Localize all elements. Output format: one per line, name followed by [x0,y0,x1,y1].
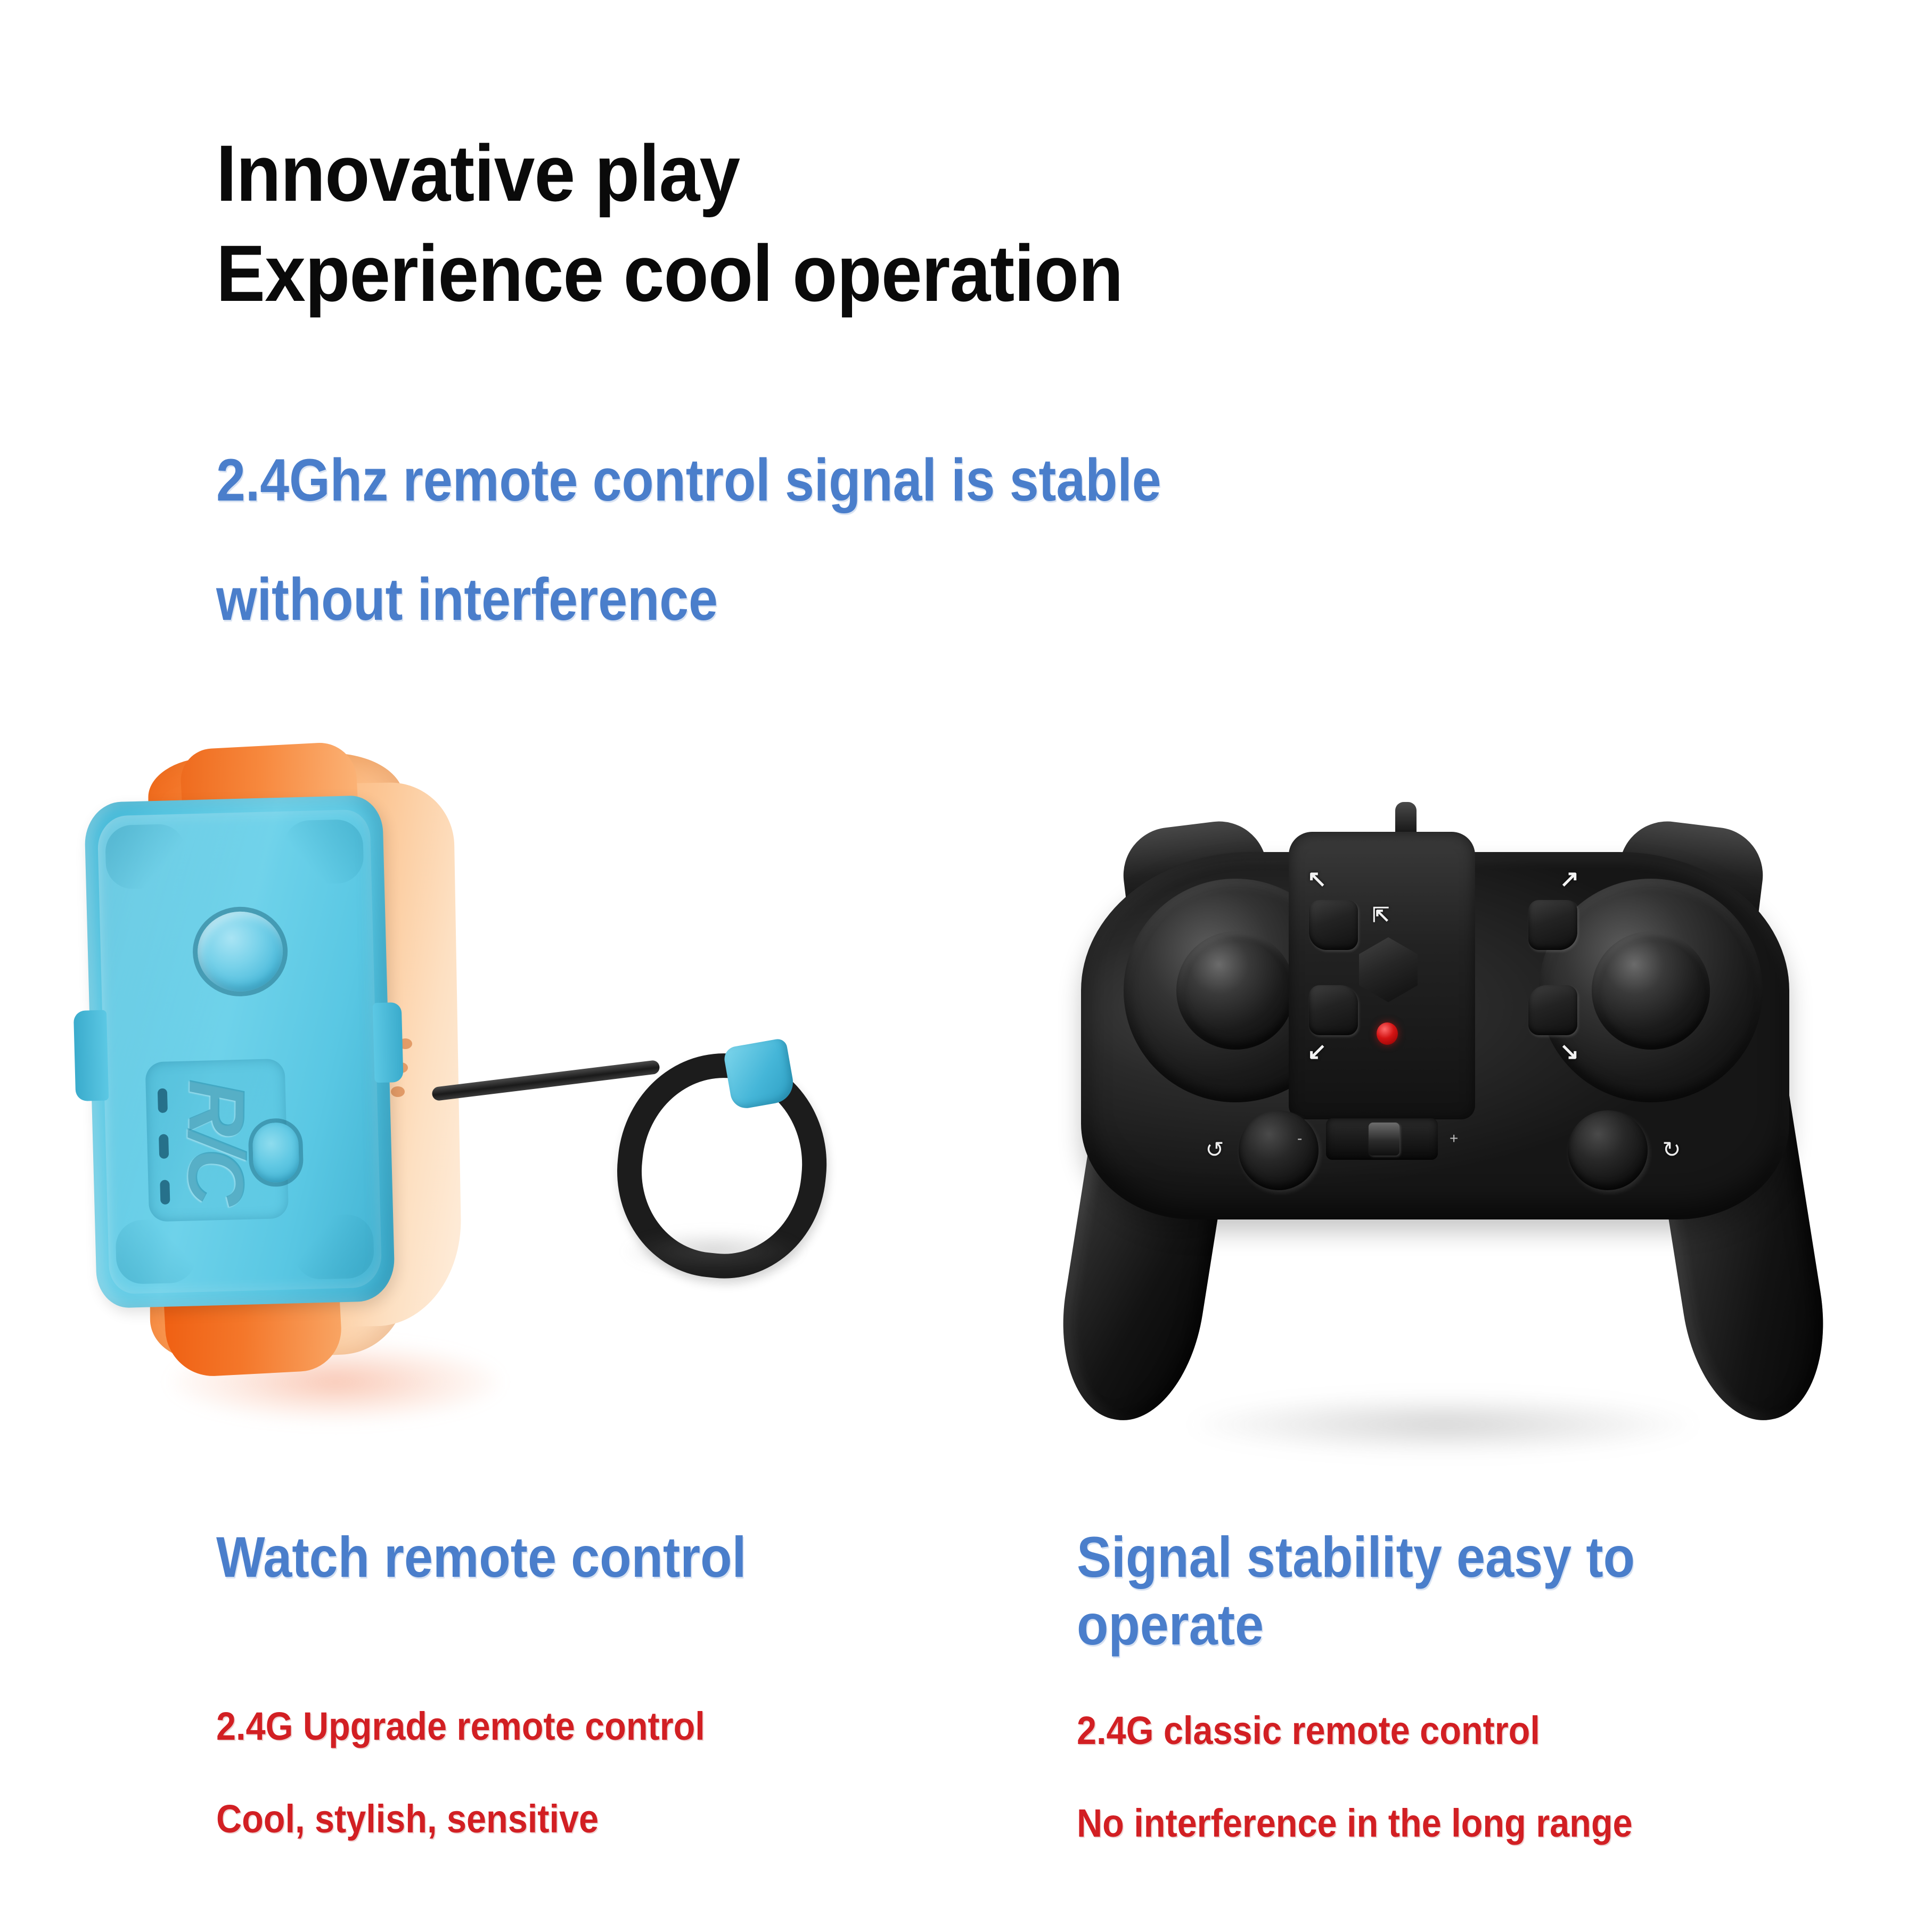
gamepad-drop-shadow [1188,1395,1699,1454]
lanyard-drop-shadow [623,1230,804,1273]
trim-button-left[interactable] [1239,1110,1319,1190]
arrow-up-left-icon: ↖ [1305,867,1329,891]
page-subtitle: 2.4Ghz remote control signal is stable w… [216,421,1654,659]
slider-switch-knob[interactable] [1369,1123,1399,1156]
direction-button-bottom-left[interactable] [1309,985,1358,1035]
arrow-down-left-icon: ↙ [1305,1039,1329,1064]
caption-line: No interference in the long range [1077,1777,1767,1870]
trim-button-right[interactable] [1568,1110,1648,1190]
direction-button-bottom-right[interactable] [1528,985,1577,1035]
caption-heading-left: Watch remote control [216,1523,926,1591]
caption-column-left: Watch remote control 2.4G Upgrade remote… [216,1523,1004,1865]
watch-small-button[interactable] [252,1122,300,1183]
caption-line: 2.4G classic remote control [1077,1684,1767,1777]
direction-button-top-left[interactable] [1309,900,1358,950]
headline-line-2: Experience cool operation [216,224,1490,324]
product-image-row: R/C [0,735,1932,1491]
caption-heading-right: Signal stability easy to operate [1077,1523,1767,1659]
power-led-indicator [1377,1022,1398,1045]
caption-column-right: Signal stability easy to operate 2.4G cl… [1077,1523,1844,1870]
page-headline: Innovative play Experience cool operatio… [216,124,1601,323]
watch-lanyard-stem [431,1060,660,1101]
antenna-icon [1395,802,1417,835]
watch-side-nub-left [73,1010,109,1102]
trim-left-icon: ↺ [1199,1134,1230,1165]
watch-corner-accent [105,824,186,890]
headline-line-1: Innovative play [216,124,1490,224]
gamepad-photo: ⇱ ↖ ↗ ↙ ↘ ↺ ↻ - + [1028,799,1859,1448]
watch-face-body: R/C [84,795,396,1308]
subtitle-line-2: without interference [216,540,1481,659]
slider-tick-right: + [1450,1128,1458,1149]
watch-corner-accent [283,819,364,885]
arrow-up-icon: ⇱ [1369,903,1393,928]
arrow-down-right-icon: ↘ [1557,1039,1582,1064]
slider-tick-left: - [1297,1128,1302,1149]
caption-line: 2.4G Upgrade remote control [216,1680,926,1773]
subtitle-line-1: 2.4Ghz remote control signal is stable [216,421,1481,540]
analog-stick-knob-left[interactable] [1176,931,1295,1050]
caption-body-left: 2.4G Upgrade remote control Cool, stylis… [216,1680,1004,1865]
watch-side-nub-right [373,1002,404,1083]
arrow-up-right-icon: ↗ [1557,867,1582,891]
trim-right-icon: ↻ [1656,1134,1687,1165]
direction-button-top-right[interactable] [1528,900,1577,950]
product-feature-page: Innovative play Experience cool operatio… [0,0,1932,1932]
caption-line: Cool, stylish, sensitive [216,1773,926,1865]
watch-corner-accent [293,1214,374,1280]
watch-remote-photo: R/C [91,735,996,1480]
watch-vent-slots [155,1088,180,1206]
watch-corner-accent [115,1218,197,1284]
analog-stick-knob-right[interactable] [1592,931,1710,1050]
caption-body-right: 2.4G classic remote control No interfere… [1077,1684,1844,1870]
